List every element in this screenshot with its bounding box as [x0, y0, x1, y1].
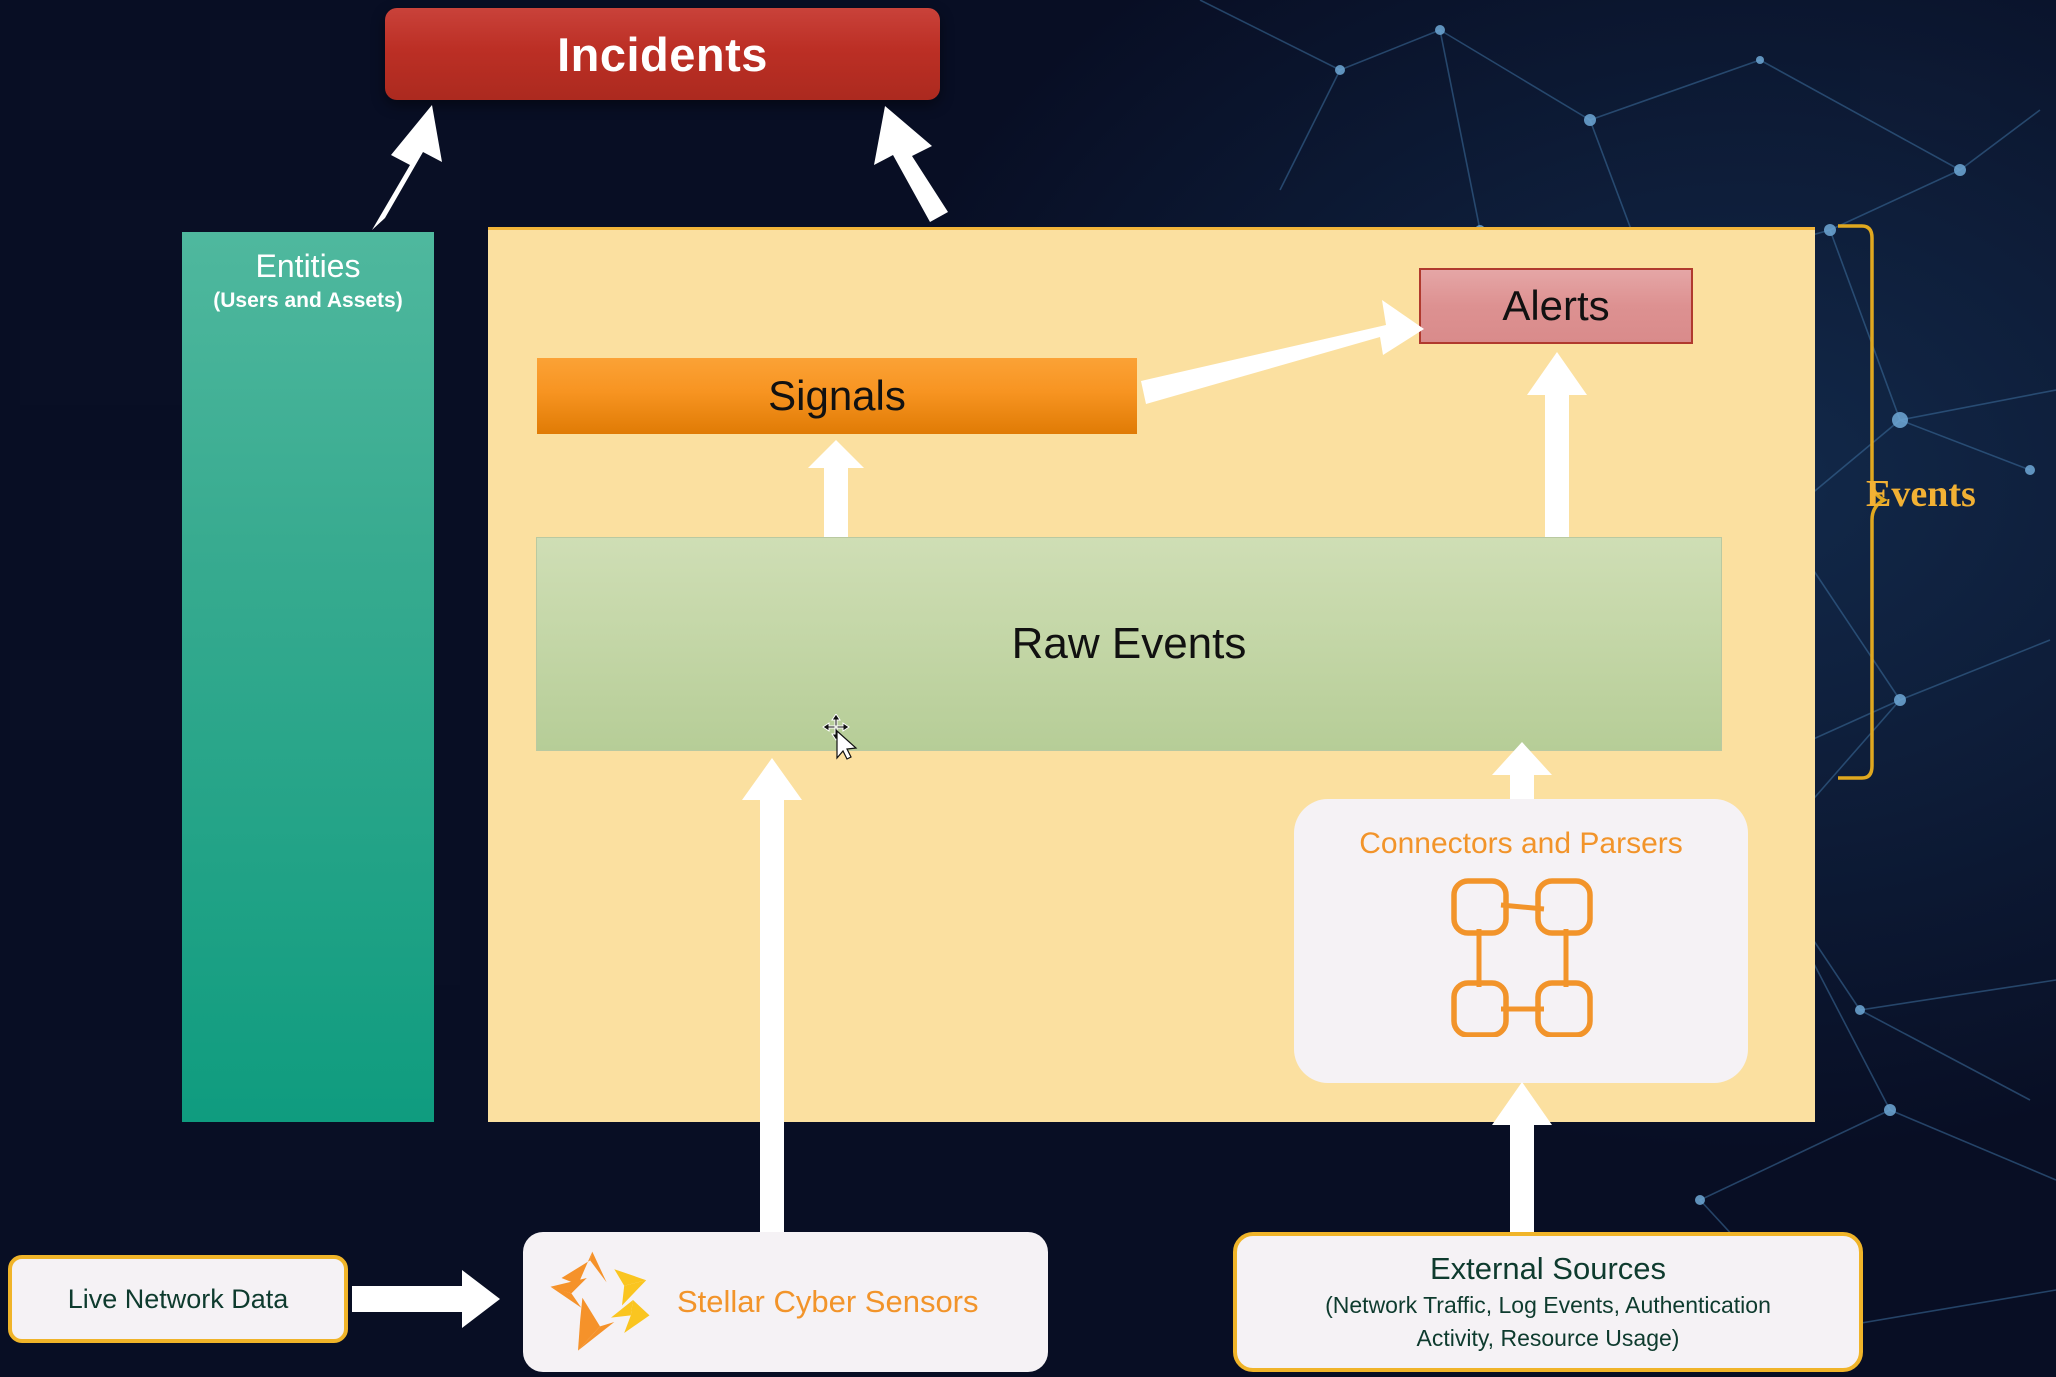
- live-network-data-label: Live Network Data: [68, 1284, 289, 1315]
- stellar-cyber-sensors-label: Stellar Cyber Sensors: [677, 1284, 979, 1320]
- raw-events-box[interactable]: Raw Events: [536, 537, 1722, 751]
- move-cursor: [820, 714, 862, 765]
- alerts-label: Alerts: [1502, 282, 1609, 330]
- diagram-canvas: Incidents Entities (Users and Assets) Ra…: [0, 0, 2056, 1377]
- network-nodes-icon: [1446, 877, 1596, 1042]
- external-sources-sublabel-line1: (Network Traffic, Log Events, Authentica…: [1325, 1291, 1771, 1320]
- stellar-cyber-star-logo: [545, 1245, 655, 1360]
- events-annotation-label: Events: [1866, 472, 1976, 516]
- external-sources-sublabel-line2: Activity, Resource Usage): [1417, 1324, 1680, 1353]
- external-sources-box[interactable]: External Sources (Network Traffic, Log E…: [1233, 1232, 1863, 1372]
- signals-label: Signals: [768, 372, 906, 420]
- incidents-box[interactable]: Incidents: [385, 8, 940, 100]
- incidents-label: Incidents: [557, 27, 768, 82]
- entities-label: Entities: [182, 246, 434, 286]
- raw-events-label: Raw Events: [1012, 619, 1247, 669]
- connectors-and-parsers-card[interactable]: Connectors and Parsers: [1294, 799, 1748, 1083]
- live-network-data-box[interactable]: Live Network Data: [8, 1255, 348, 1343]
- events-annotation: Events: [1866, 470, 2046, 518]
- entities-box[interactable]: Entities (Users and Assets): [182, 232, 434, 1122]
- entities-sublabel: (Users and Assets): [182, 289, 434, 313]
- alerts-box[interactable]: Alerts: [1419, 268, 1693, 344]
- external-sources-label: External Sources: [1430, 1251, 1666, 1287]
- signals-box[interactable]: Signals: [537, 358, 1137, 434]
- stellar-cyber-sensors-card[interactable]: Stellar Cyber Sensors: [523, 1232, 1048, 1372]
- connectors-and-parsers-label: Connectors and Parsers: [1359, 827, 1683, 861]
